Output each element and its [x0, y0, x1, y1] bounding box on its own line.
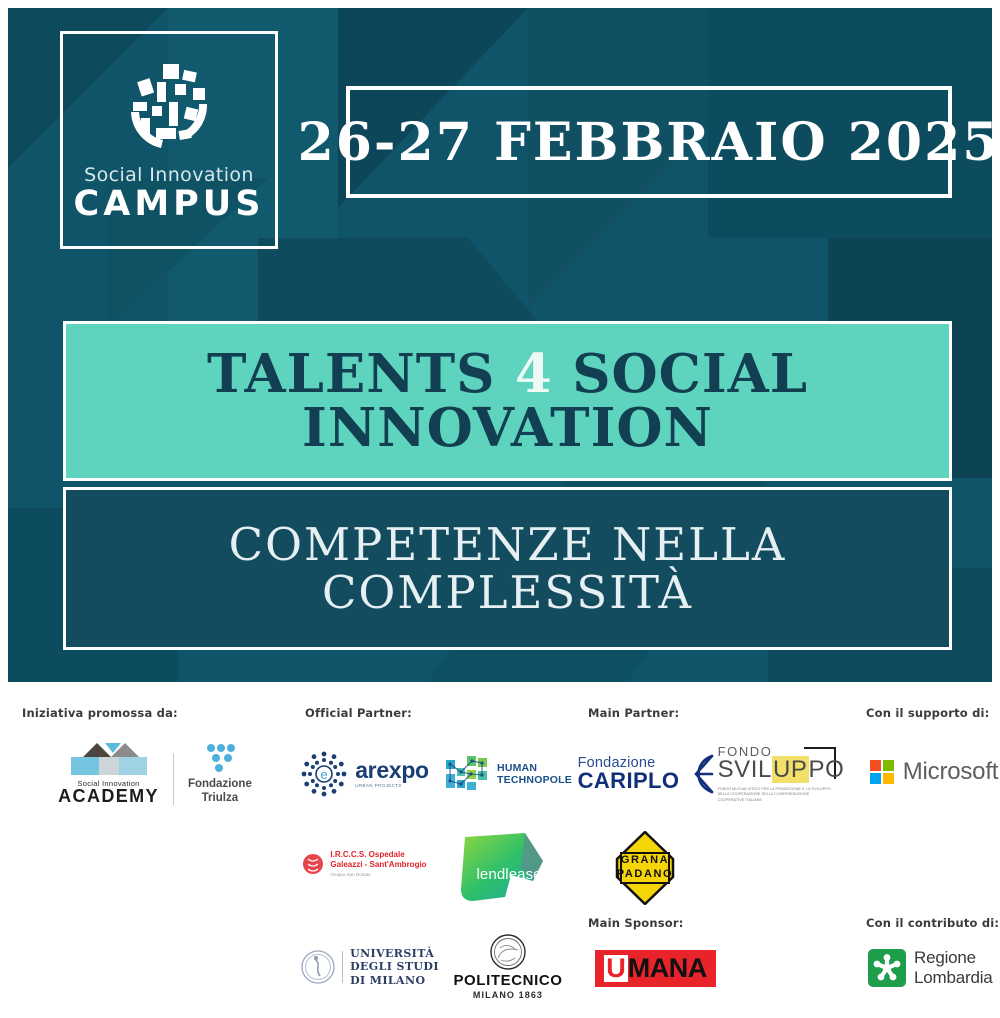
event-logo: Social Innovation CAMPUS: [60, 31, 278, 249]
title-highlight-four: 4: [515, 343, 553, 405]
main-title: TALENTS 4 SOCIAL INNOVATION: [207, 347, 808, 455]
title-part2: SOCIAL: [553, 343, 808, 405]
label-official-partner: Official Partner:: [305, 706, 412, 720]
logo-social-innovation-academy: Social Innovation ACADEMY: [58, 741, 159, 806]
logo-grana-padano: GRANA PADANO: [600, 828, 690, 908]
academy-roof-icon: [65, 741, 153, 777]
unimi-seal-icon: [301, 950, 335, 984]
unimi-line2: DEGLI STUDI: [350, 960, 439, 973]
politecnico-line2: MILANO 1863: [473, 991, 543, 1000]
unimi-line1: UNIVERSITÀ: [350, 947, 434, 960]
logo-human-technopole: HUMAN TECHNOPOLE: [443, 745, 573, 803]
subtitle-line1: COMPETENZE NELLA: [229, 518, 787, 571]
logo-regione-lombardia: Regione Lombardia: [868, 942, 1000, 994]
galeazzi-line1: I.R.C.C.S. Ospedale: [330, 850, 404, 859]
fondo-svil: SVIL: [718, 756, 772, 783]
subtitle-line2: COMPLESSITÀ: [322, 566, 693, 619]
galeazzi-line2: Galeazzi - Sant'Ambrogio: [330, 860, 426, 869]
logo-academy-triulza: Social Innovation ACADEMY Fondazione: [55, 738, 255, 808]
umana-rest: MANA: [628, 955, 707, 982]
poster-page: Social Innovation CAMPUS 26-27 FEBBRAIO …: [0, 0, 1000, 1018]
microsoft-wordmark: Microsoft: [903, 760, 999, 784]
event-date-badge: 26-27 FEBBRAIO 2025: [346, 86, 952, 198]
main-title-band: TALENTS 4 SOCIAL INNOVATION: [63, 321, 952, 481]
politecnico-line1: POLITECNICO: [453, 973, 562, 988]
logo-fondazione-cariplo: Fondazione CARIPLO: [583, 745, 713, 803]
arexpo-wordmark: arexpo: [355, 759, 429, 782]
galeazzi-line3: Gruppo San Donato: [330, 872, 426, 878]
label-main-sponsor: Main Sponsor:: [588, 916, 684, 930]
label-main-partner: Main Partner:: [588, 706, 679, 720]
logo-microsoft: Microsoft: [872, 748, 996, 796]
sponsors-footer: Iniziativa promossa da: Official Partner…: [0, 690, 1000, 1018]
cariplo-line2: CARIPLO: [578, 770, 680, 792]
title-line2: INNOVATION: [302, 397, 713, 459]
logo-arexpo: e arexpo URBAN PROJECTS: [300, 745, 430, 803]
triulza-dots-icon: [202, 743, 238, 777]
academy-wordmark: ACADEMY: [58, 787, 159, 805]
arexpo-mandala-icon: e: [301, 751, 347, 797]
fondo-po: PO: [809, 756, 845, 783]
fondo-fine-print: FONDO MUTUALISTICO PER LA PROMOZIONE E L…: [718, 787, 836, 803]
subtitle: COMPETENZE NELLA COMPLESSITÀ: [229, 521, 787, 616]
label-contribution: Con il contributo di:: [866, 916, 999, 930]
logo-umana: UMANA: [588, 943, 723, 993]
human-technopole-mark-icon: [444, 754, 492, 794]
grana-line1: GRANA: [621, 854, 669, 866]
title-part1: TALENTS: [207, 343, 515, 405]
regione-line2: Lombardia: [914, 968, 993, 987]
ht-line2: TECHNOPOLE: [497, 774, 572, 786]
subtitle-band: COMPETENZE NELLA COMPLESSITÀ: [63, 487, 952, 650]
logo-divider: [173, 753, 174, 805]
regione-lombardia-rose-icon: [868, 949, 906, 987]
unimi-line3: DI MILANO: [350, 974, 425, 987]
arexpo-tagline: URBAN PROJECTS: [355, 784, 429, 789]
social-innovation-globe-icon: [119, 58, 219, 158]
galeazzi-emblem-icon: [302, 853, 324, 875]
logo-fondo-sviluppo: FONDO SVILUPPO FONDO MUTUALISTICO PER LA…: [716, 738, 846, 810]
logo-galeazzi: I.R.C.C.S. Ospedale Galeazzi - Sant'Ambr…: [297, 838, 432, 890]
umana-u: U: [604, 955, 628, 982]
event-date-text: 26-27 FEBBRAIO 2025: [298, 112, 992, 173]
logo-politecnico-milano: POLITECNICO MILANO 1863: [448, 932, 568, 1002]
lendlease-wordmark: lendlease: [477, 867, 542, 882]
logo-fondazione-triulza: Fondazione Triulza: [188, 743, 252, 806]
label-promoted-by: Iniziativa promossa da:: [22, 706, 178, 720]
triulza-line1: Fondazione: [188, 778, 252, 790]
label-support: Con il supporto di:: [866, 706, 989, 720]
logo-lendlease: lendlease: [445, 828, 560, 908]
triulza-line2: Triulza: [202, 792, 238, 804]
logo-universita-milano: UNIVERSITÀ DEGLI STUDI DI MILANO: [300, 940, 440, 994]
logo-tagline: Social Innovation: [84, 164, 254, 186]
ht-line1: HUMAN: [497, 762, 537, 774]
microsoft-squares-icon: [870, 760, 894, 784]
regione-line1: Regione: [914, 948, 976, 967]
cariplo-symbol-icon: [686, 752, 718, 796]
logo-wordmark: CAMPUS: [74, 186, 265, 223]
politecnico-seal-icon: [489, 934, 527, 970]
hero-banner: Social Innovation CAMPUS 26-27 FEBBRAIO …: [8, 8, 992, 682]
grana-line2: PADANO: [617, 868, 673, 880]
svg-text:e: e: [321, 767, 328, 782]
fondo-up: UP: [772, 756, 809, 783]
unimi-divider: [342, 951, 343, 983]
